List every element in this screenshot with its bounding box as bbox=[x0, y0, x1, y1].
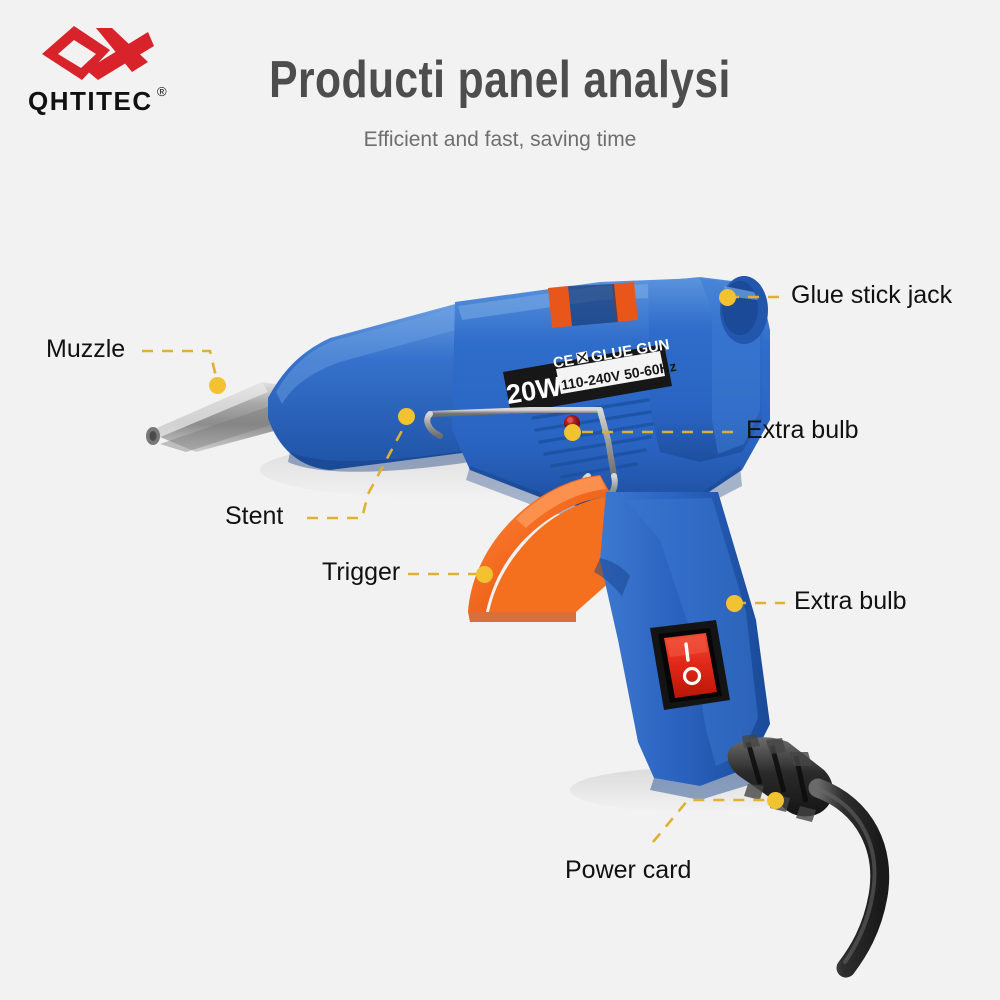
leader-line-stent bbox=[307, 425, 405, 518]
callout-dot-extra-bulb-led[interactable] bbox=[564, 424, 581, 441]
callout-label-power-card: Power card bbox=[565, 858, 691, 883]
infographic-page: QHTITEC ® Producti panel analysi Efficie… bbox=[0, 0, 1000, 1000]
leader-line-power-card bbox=[653, 800, 772, 842]
callout-label-extra-bulb-led: Extra bulb bbox=[746, 418, 859, 443]
callout-label-glue-stick-jack: Glue stick jack bbox=[791, 283, 952, 308]
leader-line-muzzle bbox=[142, 351, 217, 381]
callout-label-trigger: Trigger bbox=[322, 560, 400, 585]
callout-leader-lines bbox=[0, 0, 1000, 1000]
callout-label-stent: Stent bbox=[225, 504, 283, 529]
callout-dot-glue-stick-jack[interactable] bbox=[719, 289, 736, 306]
callout-label-extra-bulb-switch: Extra bulb bbox=[794, 589, 907, 614]
callout-dot-trigger[interactable] bbox=[476, 566, 493, 583]
callout-dot-muzzle[interactable] bbox=[209, 377, 226, 394]
callout-label-muzzle: Muzzle bbox=[46, 337, 125, 362]
callout-dot-stent[interactable] bbox=[398, 408, 415, 425]
callout-dot-extra-bulb-switch[interactable] bbox=[726, 595, 743, 612]
callout-dot-power-card[interactable] bbox=[767, 792, 784, 809]
